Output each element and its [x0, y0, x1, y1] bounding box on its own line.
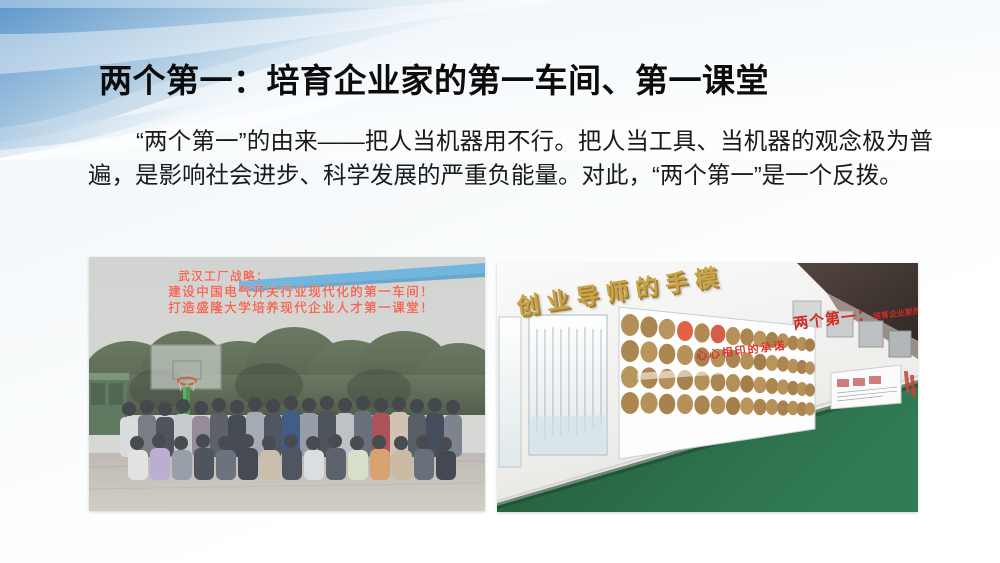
- photo-group-outdoor: 武汉工厂战略： 建设中国电气开关行业现代化的第一车间！ 打造盛隆大学培养现代企业…: [89, 257, 485, 511]
- banner-line-3: 打造盛隆大学培养现代企业人才第一课堂！: [168, 300, 477, 316]
- slide-title: 两个第一：培育企业家的第一车间、第一课堂: [99, 62, 769, 100]
- photo-mentor-handprint-wall: 创业导师的手模 心心相印的承诺 两个第一：培育企业家的第一车间: [497, 263, 918, 512]
- slide-body-paragraph: “两个第一”的由来——把人当机器用不行。把人当工具、当机器的观念极为普遍，是影响…: [88, 124, 933, 192]
- banner-line-2: 建设中国电气开关行业现代化的第一车间！: [168, 284, 477, 300]
- wall-red-slogan-sub: 培育企业家的第一车间: [872, 302, 918, 321]
- banner-line-1: 武汉工厂战略：: [168, 270, 477, 285]
- slide-canvas: 两个第一：培育企业家的第一车间、第一课堂 “两个第一”的由来——把人当机器用不行…: [0, 0, 1000, 563]
- factory-banner-overlay: 武汉工厂战略： 建设中国电气开关行业现代化的第一车间！ 打造盛隆大学培养现代企业…: [168, 270, 477, 317]
